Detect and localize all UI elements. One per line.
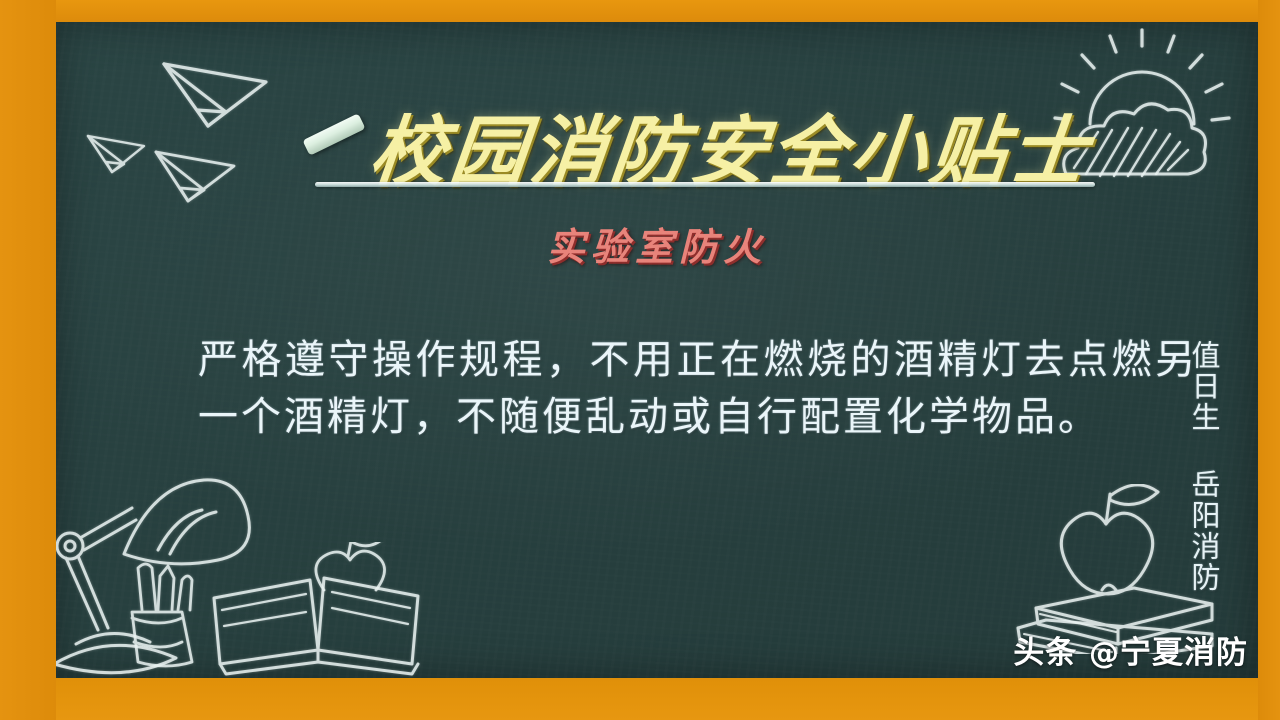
chalkboard: 校园消防安全小贴士 实验室防火 严格遵守操作规程，不用正在燃烧的酒精灯去点燃另一… — [56, 22, 1258, 678]
desk-lamp-icon — [56, 458, 386, 678]
title-block: 校园消防安全小贴士 — [311, 94, 1101, 190]
paper-plane-icon — [66, 26, 326, 206]
duty-signature: 值日生 岳阳消防 — [1180, 340, 1222, 593]
frame-border-top — [0, 0, 1280, 22]
frame-border-left — [0, 0, 56, 720]
open-book-icon — [206, 542, 456, 678]
page-subtitle: 实验室防火 — [56, 216, 1258, 271]
chalk-stick-icon — [302, 113, 365, 155]
watermark: 头条 @宁夏消防 — [1013, 627, 1248, 672]
title-underline — [315, 182, 1095, 187]
slide-canvas: 校园消防安全小贴士 实验室防火 严格遵守操作规程，不用正在燃烧的酒精灯去点燃另一… — [0, 0, 1280, 720]
frame-border-right — [1258, 0, 1280, 720]
body-paragraph: 严格遵守操作规程，不用正在燃烧的酒精灯去点燃另一个酒精灯，不随便乱动或自行配置化… — [198, 332, 1198, 446]
watermark-platform: 头条 — [1013, 635, 1077, 671]
watermark-account: 宁夏消防 — [1120, 635, 1248, 671]
frame-border-bottom — [0, 678, 1280, 720]
watermark-at-icon: @ — [1089, 636, 1120, 671]
